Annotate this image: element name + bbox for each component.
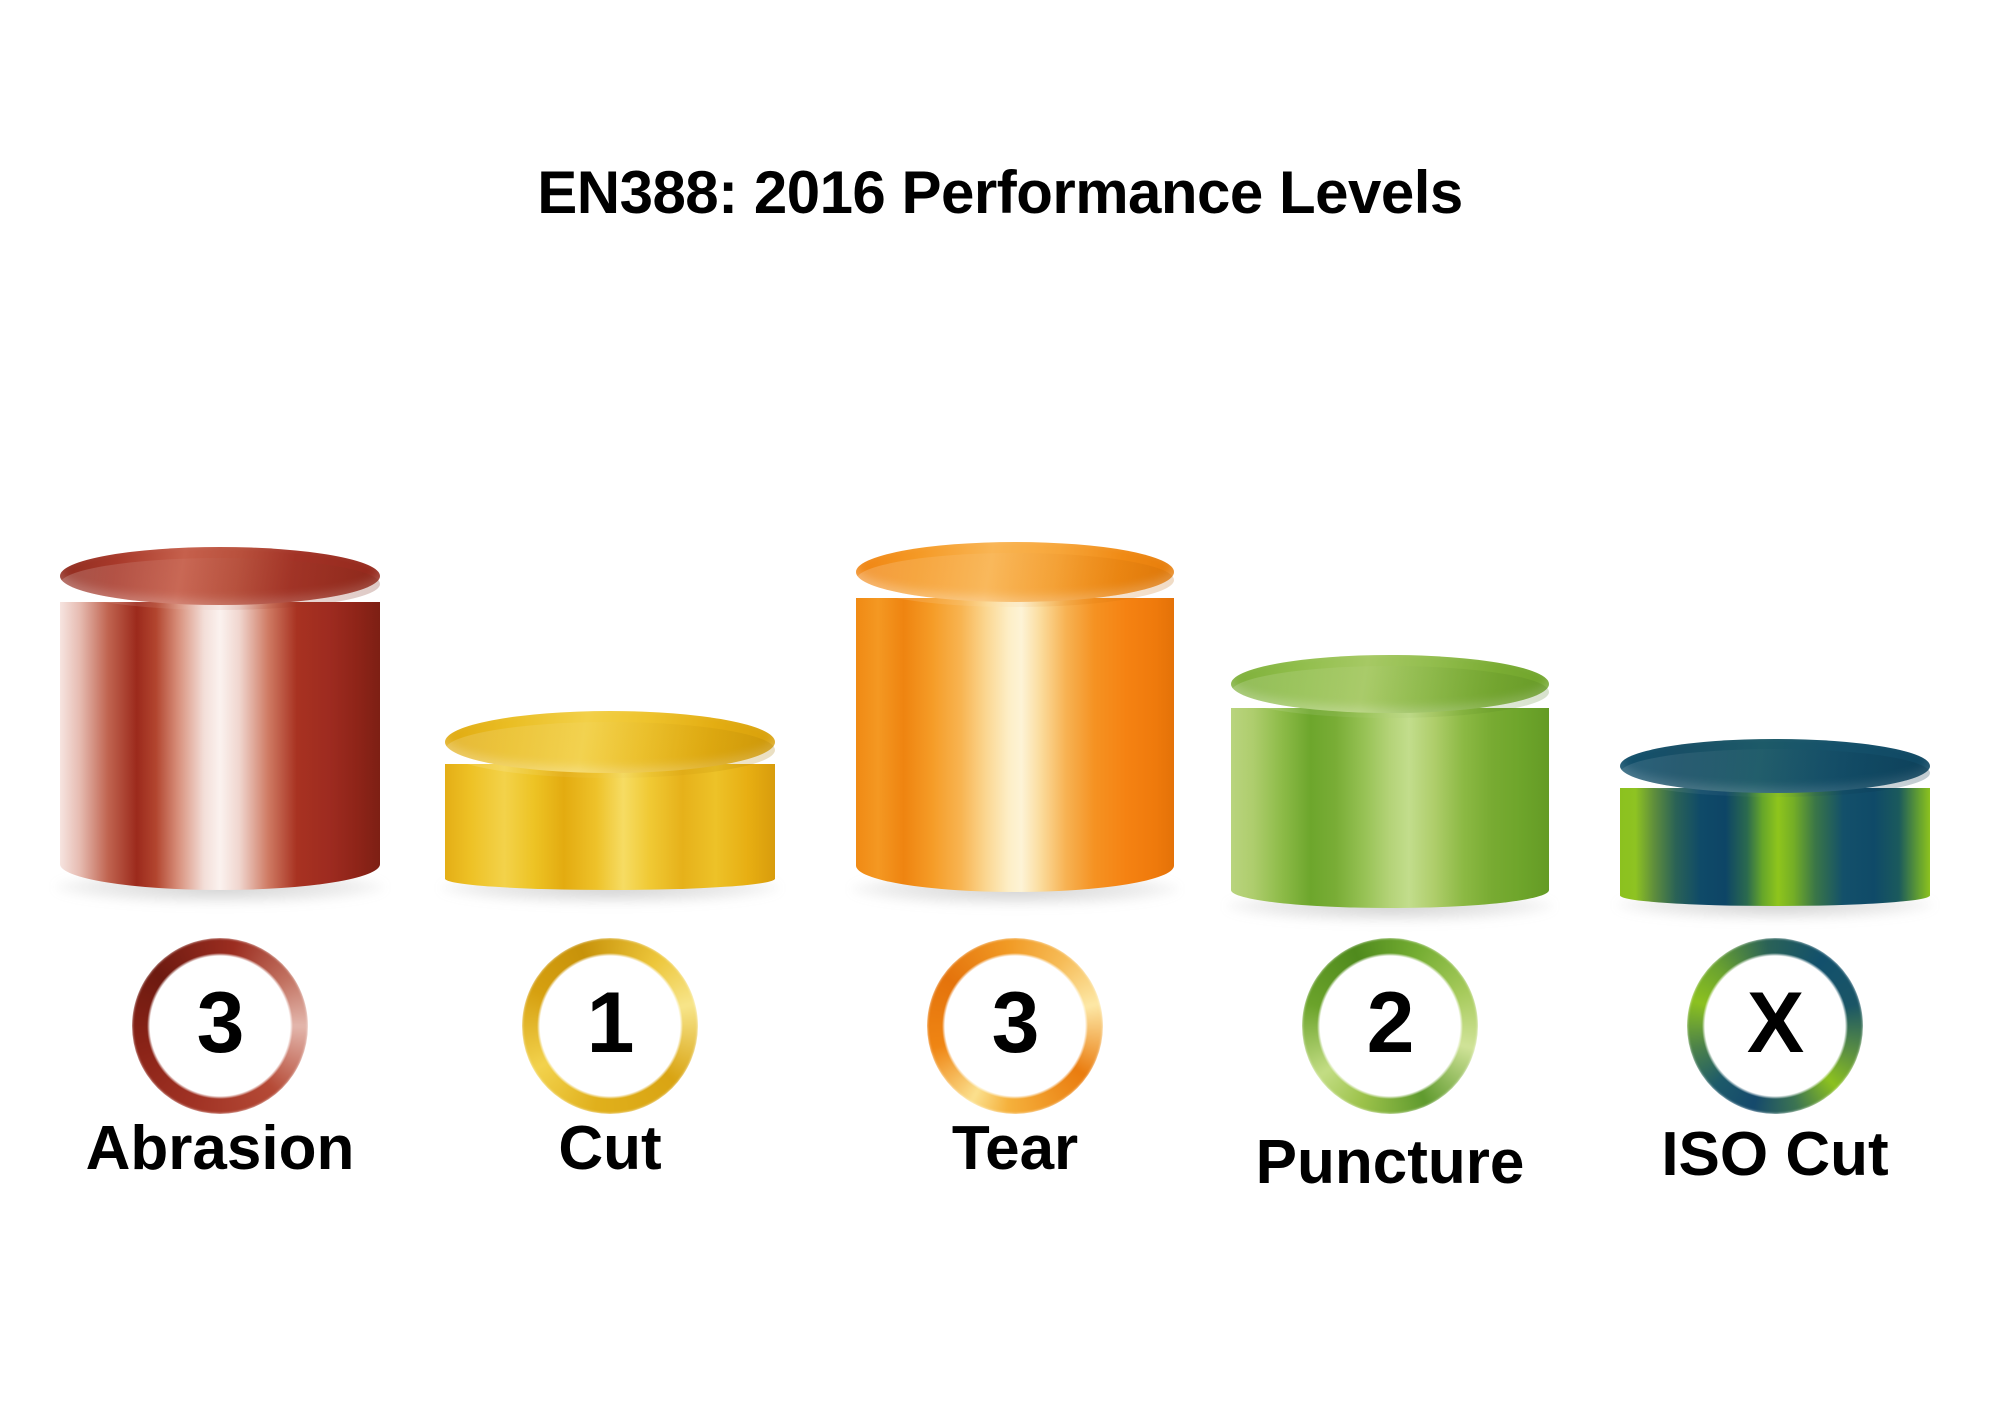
cylinder-top-rim	[1231, 666, 1549, 718]
level-value: X	[1747, 980, 1803, 1066]
cylinder-body	[1231, 708, 1549, 908]
level-badge-isocut: X	[1687, 938, 1863, 1114]
bar-group-cut: 1 Cut	[435, 0, 785, 1414]
bar-group-isocut: X ISO Cut	[1610, 0, 1940, 1414]
performance-level-chart: 3 Abrasion 1 Cut	[0, 0, 2000, 1414]
bar-label-cut: Cut	[558, 1118, 661, 1180]
cylinder-top-rim	[445, 722, 775, 778]
level-value: 3	[197, 980, 244, 1066]
level-value: 2	[1367, 980, 1414, 1066]
cylinder-tear	[856, 572, 1174, 892]
bar-label-abrasion: Abrasion	[86, 1118, 355, 1180]
cylinder-isocut	[1620, 766, 1930, 906]
level-value: 1	[587, 980, 634, 1066]
cylinder-top-rim	[60, 558, 380, 610]
bar-group-tear: 3 Tear	[845, 0, 1185, 1414]
level-badge-puncture: 2	[1302, 938, 1478, 1114]
level-badge-abrasion: 3	[132, 938, 308, 1114]
cylinder-body	[856, 598, 1174, 892]
cylinder-top-rim	[856, 553, 1174, 607]
level-badge-cut: 1	[522, 938, 698, 1114]
cylinder-body	[60, 602, 380, 890]
cylinder-puncture	[1231, 684, 1549, 908]
level-badge-tear: 3	[927, 938, 1103, 1114]
bar-label-isocut: ISO Cut	[1661, 1124, 1888, 1186]
cylinder-cut	[445, 742, 775, 890]
bar-group-puncture: 2 Puncture	[1225, 0, 1555, 1414]
bar-group-abrasion: 3 Abrasion	[40, 0, 400, 1414]
cylinder-body	[1620, 788, 1930, 906]
cylinder-top-rim	[1620, 749, 1930, 797]
bar-label-puncture: Puncture	[1256, 1132, 1525, 1194]
level-value: 3	[992, 980, 1039, 1066]
infographic-canvas: EN388: 2016 Performance Levels 3 Abrasio…	[0, 0, 2000, 1414]
cylinder-body	[445, 764, 775, 890]
cylinder-abrasion	[60, 576, 380, 890]
bar-label-tear: Tear	[952, 1118, 1078, 1180]
